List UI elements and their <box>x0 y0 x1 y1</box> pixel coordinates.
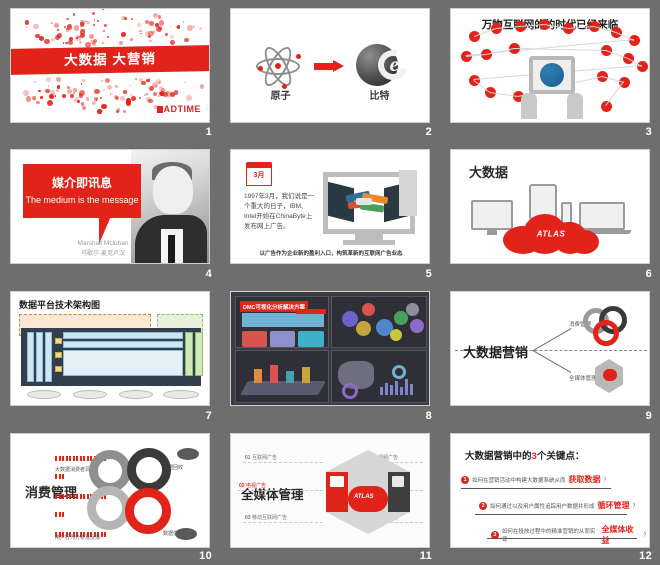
page-number-8: 8 <box>426 410 432 422</box>
page-number-3: 3 <box>646 126 652 138</box>
globe-icon <box>540 63 564 87</box>
ring-label-04: 04 <box>149 462 157 469</box>
rocket-cloud-icon <box>175 528 197 540</box>
page-number-5: 5 <box>426 268 432 280</box>
slide-7[interactable]: 数据平台技术架构图 <box>10 291 210 406</box>
slide-cell-6[interactable]: 大数据 ATLAS 6 <box>440 141 660 283</box>
slide-cell-5[interactable]: 3月 1997年3月，我们说是一个重大的日子，IBM、Intel开始在China… <box>220 141 440 283</box>
slide-cell-9[interactable]: 大数据营销 消费管理 全媒体管理 9 <box>440 283 660 425</box>
slide-cell-4[interactable]: 媒介即讯息 The medium is the message Marshall… <box>0 141 220 283</box>
panel-bubble-chart <box>331 296 427 348</box>
logo-mark <box>157 106 163 113</box>
page-number-10: 10 <box>199 550 212 562</box>
title-band: 大数据 大营销 <box>11 45 209 75</box>
panel-bar-dashboard: DMC可视化分析解决方案 <box>235 296 329 348</box>
media-label-03: 03 移动互联网广告 <box>245 514 287 521</box>
arrow-right-icon <box>314 60 344 72</box>
slide-11[interactable]: 全媒体管理 01 互联网广告 02 电视广告 03 移动互联网广告 04 视频广… <box>230 433 430 548</box>
caption-atom: 原子 <box>231 87 330 102</box>
media-thumb <box>587 357 631 397</box>
internet-explorer-icon: e <box>354 41 408 91</box>
page-number-4: 4 <box>206 268 212 280</box>
slide-8[interactable]: DMC可视化分析解决方案 <box>230 291 430 406</box>
page-number-12: 12 <box>639 550 652 562</box>
bullet-1: 1 <box>461 476 469 484</box>
slide-cell-10[interactable]: 消费管理 大数据消费者洞察 数据回收 用户行为分析及反馈 数据优化 01 04 … <box>0 425 220 565</box>
atom-icon <box>252 40 304 92</box>
slide-thumbnail-grid: 大数据 大营销 ADTIME 1 e <box>0 0 660 565</box>
key-point-2: 2 如何通过以及用户属性追踪用户数据并形成 循环管理 ？ <box>479 500 638 511</box>
caption-bit: 比特 <box>330 87 429 102</box>
handshake-icon <box>346 193 392 217</box>
slide-10[interactable]: 消费管理 大数据消费者洞察 数据回收 用户行为分析及反馈 数据优化 01 04 … <box>10 433 210 548</box>
branch-line-bottom <box>533 350 572 373</box>
atlas-logo: ATLAS <box>537 229 566 238</box>
ring-label-01: 01 <box>107 464 115 471</box>
slide-5-footer: 以广告作为企业新的盈利入口，构筑革新的互联网广告业态 <box>241 249 421 257</box>
iot-node <box>637 61 648 72</box>
quote-bubble: 媒介即讯息 The medium is the message <box>23 164 141 218</box>
slide-cell-7[interactable]: 数据平台技术架构图 7 <box>0 283 220 425</box>
key-point-1: 1 如何在营销活动中构建大数据系统从而 获取数据 ？ <box>461 474 609 485</box>
quote-cn: 媒介即讯息 <box>23 174 141 191</box>
person-caption: Marshall Mcluhan 马歇尔·麦克卢汉 <box>57 240 149 257</box>
slide-4[interactable]: 媒介即讯息 The medium is the message Marshall… <box>10 149 210 264</box>
slide-9-title: 大数据营销 <box>463 342 528 361</box>
slide-1[interactable]: 大数据 大营销 ADTIME <box>10 8 210 123</box>
hand-left <box>521 93 537 119</box>
tablet-device <box>529 56 575 94</box>
page-number-11: 11 <box>420 550 432 562</box>
consumer-thumb <box>577 304 639 344</box>
calendar-month: 3月 <box>246 168 272 186</box>
slide-cell-2[interactable]: e 原子 比特 2 <box>220 0 440 141</box>
page-number-6: 6 <box>646 268 652 280</box>
panel-3d-surface <box>235 350 329 403</box>
interlocking-rings: 01 04 02 03 <box>85 446 181 542</box>
slide-6-title: 大数据 <box>469 162 508 181</box>
slide-5[interactable]: 3月 1997年3月，我们说是一个重大的日子，IBM、Intel开始在China… <box>230 149 430 264</box>
quote-en: The medium is the message <box>23 195 141 205</box>
media-label-01: 01 互联网广告 <box>245 454 277 461</box>
person-name-cn: 马歇尔·麦克卢汉 <box>57 248 149 257</box>
slide-cell-8[interactable]: DMC可视化分析解决方案 <box>220 283 440 425</box>
person-name-en: Marshall Mcluhan <box>57 240 149 247</box>
branch-line-top <box>533 328 572 351</box>
slide-6[interactable]: 大数据 ATLAS <box>450 149 650 264</box>
calendar-icon: 3月 <box>246 162 272 186</box>
ring-label-02: 02 <box>103 508 111 515</box>
slide-cell-11[interactable]: 全媒体管理 01 互联网广告 02 电视广告 03 移动互联网广告 04 视频广… <box>220 425 440 565</box>
slide-1-title: 大数据 大营销 <box>11 45 209 75</box>
slide-cell-3[interactable]: 万物互联网的的时代已经来临 3 <box>440 0 660 141</box>
desktop-stand <box>487 230 497 235</box>
cloud-upload-icon <box>177 448 199 460</box>
adtime-logo: ADTIME <box>157 104 202 114</box>
bullet-2: 2 <box>479 502 487 510</box>
panel-china-map <box>331 350 427 403</box>
slide-cell-1[interactable]: 大数据 大营销 ADTIME 1 <box>0 0 220 141</box>
page-number-1: 1 <box>206 126 212 138</box>
media-label-02: 02 电视广告 <box>239 482 266 489</box>
atlas-cloud: ATLAS <box>503 212 599 254</box>
slide-12-title: 大数据营销中的3个关键点： <box>465 448 584 462</box>
page-number-2: 2 <box>426 126 432 138</box>
slide-9[interactable]: 大数据营销 消费管理 全媒体管理 <box>450 291 650 406</box>
slide-2-captions: 原子 比特 <box>231 87 429 102</box>
slide-cell-12[interactable]: 大数据营销中的3个关键点： 1 如何在营销活动中构建大数据系统从而 获取数据 ？… <box>440 425 660 565</box>
slide-3[interactable]: 万物互联网的的时代已经来临 <box>450 8 650 123</box>
key-point-3: 3 如何在投放过程中的精准营销的从而实现 全媒体收益 ？ <box>491 524 649 546</box>
media-hexagon: ATLAS <box>326 450 410 534</box>
iot-node <box>629 35 640 46</box>
page-number-7: 7 <box>206 410 212 422</box>
slide-2[interactable]: e 原子 比特 <box>230 8 430 123</box>
slide-7-title: 数据平台技术架构图 <box>19 298 100 311</box>
slide-5-body: 1997年3月，我们说是一个重大的日子，IBM、Intel开始在ChinaByt… <box>244 192 316 232</box>
hand-right <box>567 93 583 119</box>
page-number-9: 9 <box>646 410 652 422</box>
slide-12[interactable]: 大数据营销中的3个关键点： 1 如何在营销活动中构建大数据系统从而 获取数据 ？… <box>450 433 650 548</box>
ring-label-03: 03 <box>147 512 155 519</box>
atlas-center-logo: ATLAS <box>354 494 374 500</box>
logo-text: ADTIME <box>164 104 202 114</box>
